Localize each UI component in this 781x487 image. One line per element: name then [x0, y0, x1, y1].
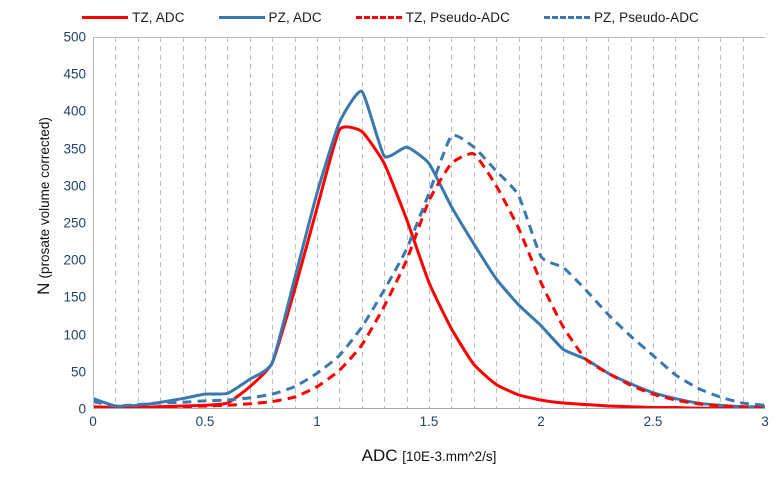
legend-label: PZ, ADC — [269, 10, 322, 25]
legend-swatch-icon — [219, 16, 265, 19]
legend-entry[interactable]: PZ, Pseudo-ADC — [544, 10, 699, 25]
x-tick-label: 0.5 — [175, 414, 235, 429]
chart-legend: TZ, ADCPZ, ADCTZ, Pseudo-ADCPZ, Pseudo-A… — [0, 4, 781, 30]
y-tick-label: 450 — [26, 67, 86, 82]
y-tick-label: 400 — [26, 104, 86, 119]
plot-svg — [93, 37, 765, 409]
chart-container: TZ, ADCPZ, ADCTZ, Pseudo-ADCPZ, Pseudo-A… — [0, 0, 781, 487]
y-tick-label: 250 — [26, 216, 86, 231]
x-axis-title-main: ADC — [362, 446, 398, 465]
x-tick-label: 1 — [287, 414, 347, 429]
x-tick-label: 2 — [511, 414, 571, 429]
legend-swatch-icon — [544, 16, 590, 19]
legend-entry[interactable]: TZ, Pseudo-ADC — [356, 10, 510, 25]
y-tick-label: 300 — [26, 178, 86, 193]
x-tick-label: 3 — [735, 414, 781, 429]
legend-swatch-icon — [356, 16, 402, 19]
legend-label: TZ, ADC — [132, 10, 184, 25]
legend-entry[interactable]: PZ, ADC — [219, 10, 322, 25]
legend-label: PZ, Pseudo-ADC — [594, 10, 699, 25]
legend-swatch-icon — [82, 16, 128, 19]
y-tick-label: 100 — [26, 327, 86, 342]
legend-entry[interactable]: TZ, ADC — [82, 10, 184, 25]
plot-area — [93, 37, 765, 409]
y-tick-label: 200 — [26, 253, 86, 268]
x-tick-label: 0 — [63, 414, 123, 429]
y-tick-label: 50 — [26, 364, 86, 379]
y-tick-label: 150 — [26, 290, 86, 305]
y-axis-tick-labels: 050100150200250300350400450500 — [18, 37, 86, 409]
x-tick-label: 2.5 — [623, 414, 683, 429]
y-tick-label: 500 — [26, 30, 86, 45]
y-tick-label: 350 — [26, 141, 86, 156]
x-axis-tick-labels: 00.511.522.53 — [93, 414, 765, 438]
legend-label: TZ, Pseudo-ADC — [406, 10, 510, 25]
x-axis-title: ADC [10E-3.mm^2/s] — [93, 446, 765, 466]
x-tick-label: 1.5 — [399, 414, 459, 429]
x-axis-title-units: [10E-3.mm^2/s] — [402, 449, 496, 464]
